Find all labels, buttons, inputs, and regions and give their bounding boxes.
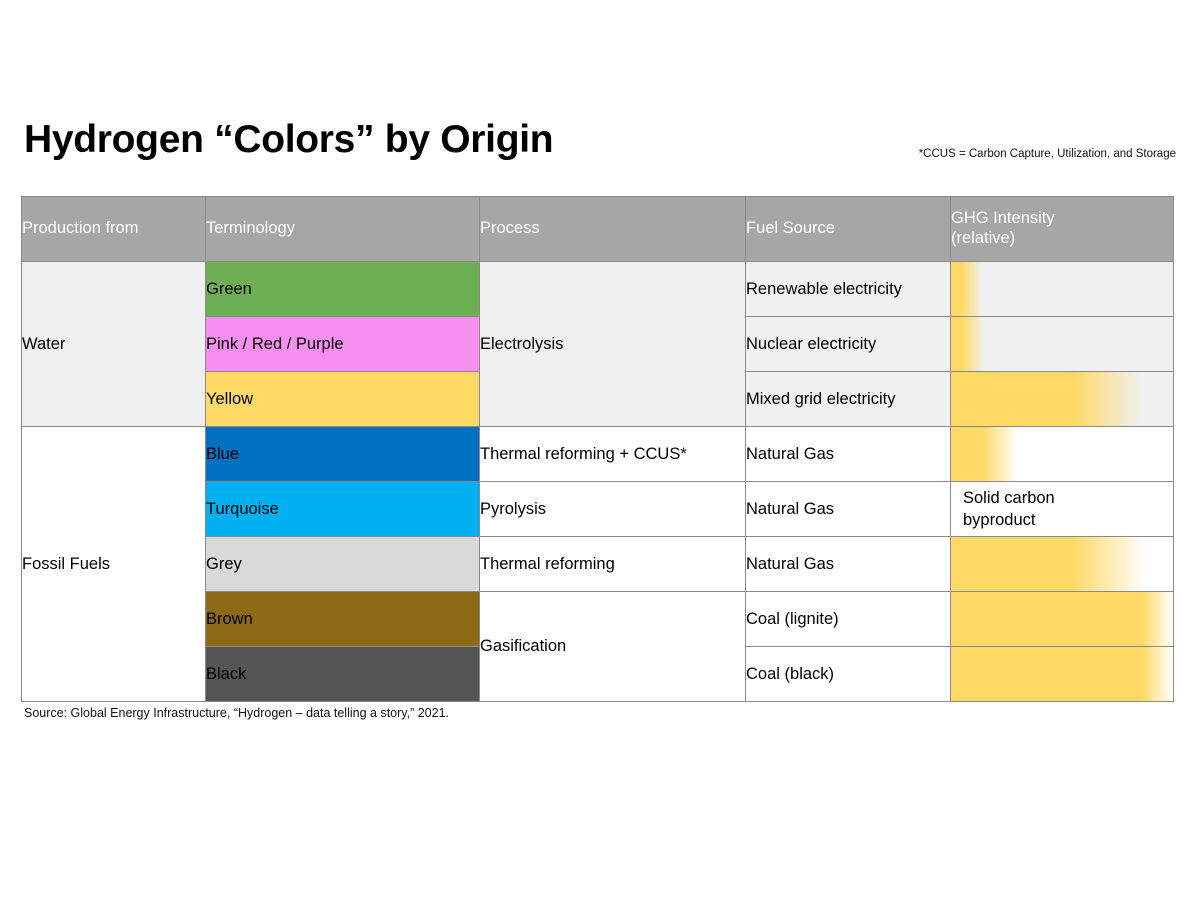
ghg-intensity-bar bbox=[951, 592, 1173, 646]
cell-fuel-source: Mixed grid electricity bbox=[746, 372, 951, 427]
cell-ghg-intensity bbox=[951, 427, 1174, 482]
cell-process: Pyrolysis bbox=[480, 482, 746, 537]
cell-ghg-intensity bbox=[951, 317, 1174, 372]
hydrogen-colors-table: Production from Terminology Process Fuel… bbox=[21, 196, 1174, 702]
header-row: Production from Terminology Process Fuel… bbox=[22, 197, 1174, 262]
column-header-terminology: Terminology bbox=[206, 197, 480, 262]
cell-fuel-source: Coal (black) bbox=[746, 647, 951, 702]
cell-process: Thermal reforming bbox=[480, 537, 746, 592]
ghg-intensity-bar bbox=[951, 372, 1142, 426]
cell-terminology-swatch: Pink / Red / Purple bbox=[206, 317, 480, 372]
column-header-production-from: Production from bbox=[22, 197, 206, 262]
cell-fuel-source: Natural Gas bbox=[746, 537, 951, 592]
cell-ghg-intensity bbox=[951, 647, 1174, 702]
cell-terminology-swatch: Grey bbox=[206, 537, 480, 592]
cell-fuel-source: Renewable electricity bbox=[746, 262, 951, 317]
source-caption: Source: Global Energy Infrastructure, “H… bbox=[24, 706, 449, 720]
cell-process: Thermal reforming + CCUS* bbox=[480, 427, 746, 482]
table-header: Production from Terminology Process Fuel… bbox=[22, 197, 1174, 262]
ghg-intensity-bar bbox=[951, 262, 982, 316]
infographic-page: Hydrogen “Colors” by Origin *CCUS = Carb… bbox=[0, 0, 1200, 900]
hydrogen-colors-table-wrap: Production from Terminology Process Fuel… bbox=[21, 196, 1173, 702]
cell-ghg-intensity bbox=[951, 262, 1174, 317]
ghg-intensity-bar bbox=[951, 647, 1173, 701]
cell-fuel-source: Natural Gas bbox=[746, 482, 951, 537]
cell-ghg-intensity bbox=[951, 592, 1174, 647]
cell-process: Electrolysis bbox=[480, 262, 746, 427]
ghg-intensity-bar bbox=[951, 537, 1146, 591]
cell-process: Gasification bbox=[480, 592, 746, 702]
column-header-process: Process bbox=[480, 197, 746, 262]
cell-terminology-swatch: Blue bbox=[206, 427, 480, 482]
table-body: WaterGreenElectrolysisRenewable electric… bbox=[22, 262, 1174, 702]
cell-ghg-intensity: Solid carbon byproduct bbox=[951, 482, 1174, 537]
cell-terminology-swatch: Green bbox=[206, 262, 480, 317]
table-row: WaterGreenElectrolysisRenewable electric… bbox=[22, 262, 1174, 317]
cell-terminology-swatch: Brown bbox=[206, 592, 480, 647]
cell-ghg-intensity bbox=[951, 372, 1174, 427]
ccus-footnote: *CCUS = Carbon Capture, Utilization, and… bbox=[919, 148, 1176, 160]
title-row: Hydrogen “Colors” by Origin *CCUS = Carb… bbox=[24, 118, 1176, 178]
cell-fuel-source: Coal (lignite) bbox=[746, 592, 951, 647]
cell-ghg-intensity bbox=[951, 537, 1174, 592]
column-header-fuel-source: Fuel Source bbox=[746, 197, 951, 262]
cell-production-from: Water bbox=[22, 262, 206, 427]
ghg-intensity-note: Solid carbon byproduct bbox=[951, 487, 1173, 532]
page-title: Hydrogen “Colors” by Origin bbox=[24, 118, 553, 162]
ghg-intensity-bar bbox=[951, 317, 984, 371]
cell-fuel-source: Natural Gas bbox=[746, 427, 951, 482]
cell-fuel-source: Nuclear electricity bbox=[746, 317, 951, 372]
table-row: Fossil FuelsBlueThermal reforming + CCUS… bbox=[22, 427, 1174, 482]
column-header-ghg-intensity: GHG Intensity (relative) bbox=[951, 197, 1174, 262]
cell-terminology-swatch: Black bbox=[206, 647, 480, 702]
cell-production-from: Fossil Fuels bbox=[22, 427, 206, 702]
cell-terminology-swatch: Turquoise bbox=[206, 482, 480, 537]
cell-terminology-swatch: Yellow bbox=[206, 372, 480, 427]
ghg-intensity-bar bbox=[951, 427, 1018, 481]
